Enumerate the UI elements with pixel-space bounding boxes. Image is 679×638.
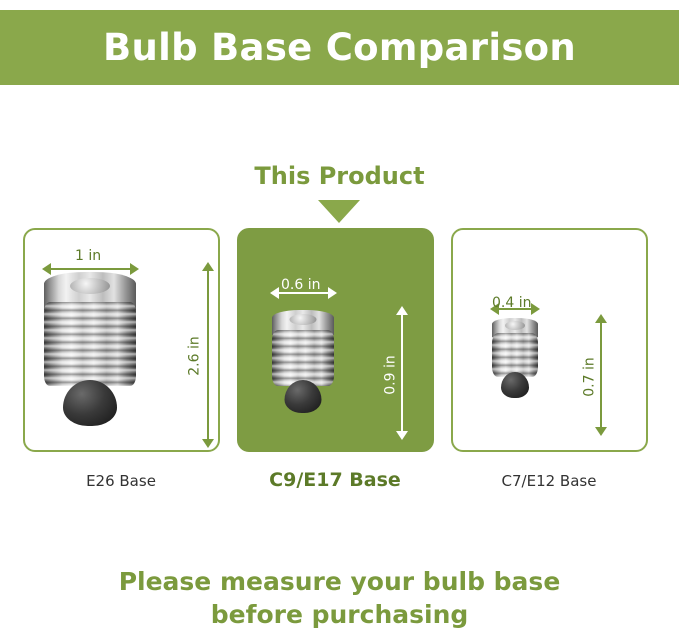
bulb-threads [44,302,136,386]
footer-note: Please measure your bulb base before pur… [0,565,679,631]
bulb-base-comparison-graphic: Bulb Base Comparison This Product 1 in 2… [0,0,679,638]
base-panel-c9e17 [237,228,434,452]
arrow-head-left-icon [42,263,51,275]
dimension-label-width-c9e17: 0.6 in [281,277,320,293]
arrow-head-up-icon [202,262,214,271]
dimension-arrow-width-e26 [42,268,139,269]
dimension-label-height-c7e12: 0.7 in [582,357,598,396]
dimension-arrow-height-e26 [207,262,208,448]
arrow-head-down-icon [396,431,408,440]
base-caption-c9e17: C9/E17 Base [215,469,455,491]
bulb-threads [492,333,538,377]
footer-line-1: Please measure your bulb base [0,565,679,598]
dimension-arrow-height-c9e17 [401,306,402,440]
dimension-label-width-e26: 1 in [75,248,101,264]
bulb-tip [501,372,529,398]
dimension-label-height-e26: 2.6 in [187,336,203,375]
footer-line-2: before purchasing [0,598,679,631]
arrow-head-right-icon [531,303,540,315]
base-caption-e26: E26 Base [1,472,241,490]
page-title: Bulb Base Comparison [103,26,576,69]
arrow-head-right-icon [328,287,337,299]
arrow-head-down-icon [202,439,214,448]
arrow-head-left-icon [270,287,279,299]
down-triangle-icon [318,200,360,223]
bulb-contact [505,321,525,330]
base-caption-c7e12: C7/E12 Base [429,472,669,490]
header-bar: Bulb Base Comparison [0,10,679,85]
bulb-tip [285,380,322,413]
arrow-head-up-icon [595,314,607,323]
bulb-contact [290,314,317,325]
bulb-threads [272,330,334,386]
this-product-label: This Product [0,162,679,190]
base-panel-c7e12 [451,228,648,452]
bulb-contact [70,278,110,294]
arrow-head-right-icon [130,263,139,275]
dimension-label-width-c7e12: 0.4 in [492,295,531,311]
arrow-head-up-icon [396,306,408,315]
arrow-head-down-icon [595,427,607,436]
dimension-arrow-height-c7e12 [600,314,601,436]
bulb-tip [63,380,117,426]
dimension-label-height-c9e17: 0.9 in [383,355,399,394]
